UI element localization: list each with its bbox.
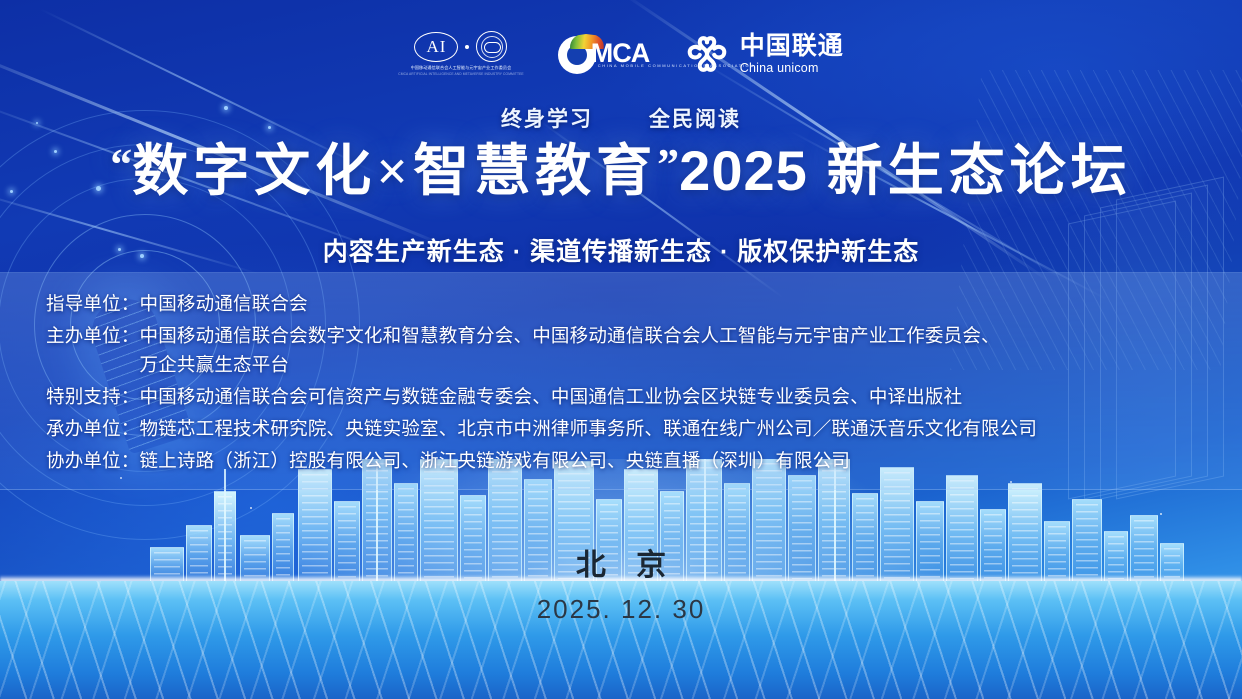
unicom-en-label: China unicom xyxy=(740,62,844,75)
ai-committee-logo: AI 中国移动通信联合会人工智能与元宇宙产业工作委员会 CMCA ARTIFIC… xyxy=(398,31,523,76)
org-value-line2: 万企共赢生态平台 xyxy=(140,350,1220,379)
title-part2: 智慧教育 xyxy=(413,141,657,203)
org-value: 链上诗路（浙江）控股有限公司、浙江央链游戏有限公司、央链直播（深圳）有限公司 xyxy=(140,446,1220,475)
org-row-host: 主办单位： 中国移动通信联合会数字文化和智慧教育分会、中国移动通信联合会人工智能… xyxy=(46,321,1220,379)
org-row-organizer: 承办单位： 物链芯工程技术研究院、央链实验室、北京市中洲律师事务所、联通在线广州… xyxy=(46,414,1220,443)
title-close-quote: ” xyxy=(657,140,679,189)
page-subtitle: 内容生产新生态 · 渠道传播新生态 · 版权保护新生态 xyxy=(0,232,1242,268)
ai-committee-caption: 中国移动通信联合会人工智能与元宇宙产业工作委员会 CMCA ARTIFICIAL… xyxy=(398,65,523,76)
ai-caption-line2: CMCA ARTIFICIAL INTELLIGENCE AND METAVER… xyxy=(398,72,523,77)
china-unicom-logo: 中国联通 China unicom xyxy=(684,34,844,75)
tagline-lifelong-learning: 终身学习 xyxy=(501,103,593,133)
org-row-co-organizer: 协办单位： 链上诗路（浙江）控股有限公司、浙江央链游戏有限公司、央链直播（深圳）… xyxy=(46,446,1220,475)
org-row-special-support: 特别支持： 中国移动通信联合会可信资产与数链金融专委会、中国通信工业协会区块链专… xyxy=(46,382,1220,411)
org-value-line1: 中国移动通信联合会数字文化和智慧教育分会、中国移动通信联合会人工智能与元宇宙产业… xyxy=(140,325,1000,346)
org-row-guidance: 指导单位： 中国移动通信联合会 xyxy=(46,289,1220,318)
separator-dot-icon xyxy=(465,45,469,49)
org-label: 特别支持： xyxy=(46,382,140,411)
unicom-cn-label: 中国联通 xyxy=(740,34,844,59)
org-value: 中国移动通信联合会 xyxy=(140,289,1220,318)
org-label: 协办单位： xyxy=(46,446,140,475)
event-city: 北 京 xyxy=(0,540,1242,584)
org-value: 中国移动通信联合会可信资产与数链金融专委会、中国通信工业协会区块链专业委员会、中… xyxy=(140,382,1220,411)
title-year: 2025 xyxy=(679,139,808,202)
org-label: 主办单位： xyxy=(46,321,140,350)
title-part1: 数字文化 xyxy=(132,141,376,203)
title-part3: 新生态论坛 xyxy=(827,141,1132,203)
org-value: 中国移动通信联合会数字文化和智慧教育分会、中国移动通信联合会人工智能与元宇宙产业… xyxy=(140,321,1220,379)
org-label: 承办单位： xyxy=(46,414,140,443)
title-open-quote: “ xyxy=(110,140,132,189)
org-label: 指导单位： xyxy=(46,289,140,318)
event-poster: AI 中国移动通信联合会人工智能与元宇宙产业工作委员会 CMCA ARTIFIC… xyxy=(0,0,1242,699)
cmca-logo: MCA CHINA MOBILE COMMUNICATIONS ASSOCIAT… xyxy=(558,32,650,76)
organizations-panel: 指导单位： 中国移动通信联合会 主办单位： 中国移动通信联合会数字文化和智慧教育… xyxy=(0,272,1242,490)
page-title: “数字文化×智慧教育”2025 新生态论坛 xyxy=(0,142,1242,202)
org-value: 物链芯工程技术研究院、央链实验室、北京市中洲律师事务所、联通在线广州公司／联通沃… xyxy=(140,414,1220,443)
title-times-symbol: × xyxy=(376,141,413,203)
ai-monogram-icon: AI xyxy=(414,32,458,62)
tagline-national-reading: 全民阅读 xyxy=(649,103,741,133)
sponsor-logo-bar: AI 中国移动通信联合会人工智能与元宇宙产业工作委员会 CMCA ARTIFIC… xyxy=(0,26,1242,82)
cmca-seal-icon xyxy=(476,31,507,62)
cmca-caption: CHINA MOBILE COMMUNICATIONS ASSOCIATION xyxy=(598,63,755,68)
event-date: 2025. 12. 30 xyxy=(0,594,1242,625)
tagline-row: 终身学习 全民阅读 xyxy=(0,103,1242,133)
